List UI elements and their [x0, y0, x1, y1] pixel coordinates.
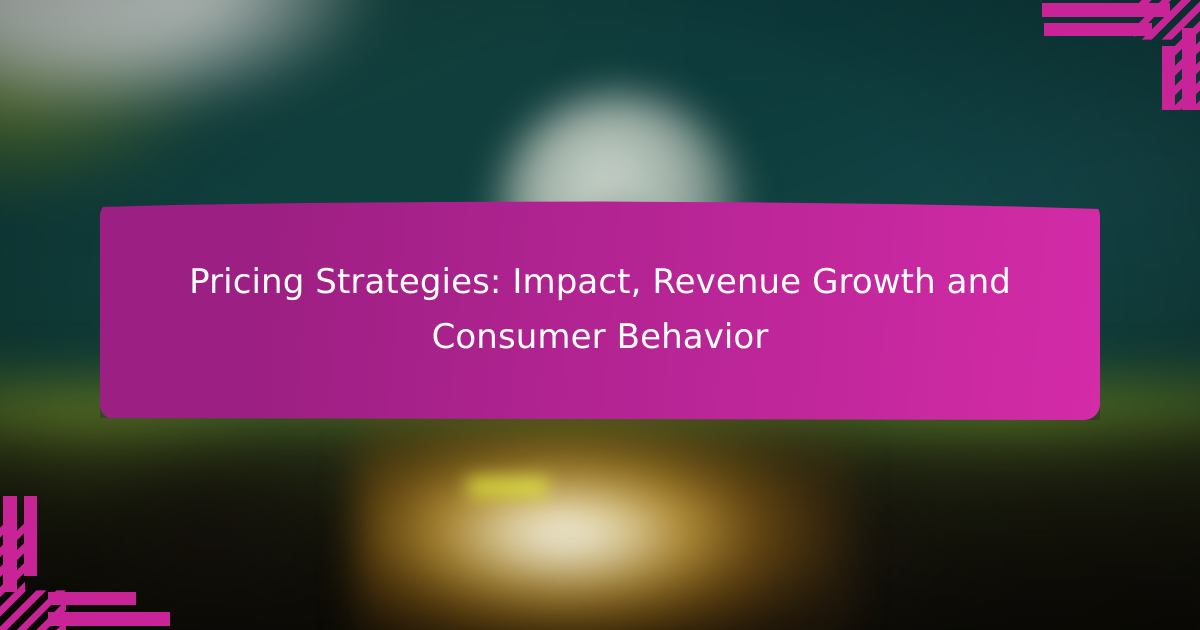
- deco-bar-tr-inner-vertical: [1162, 46, 1175, 110]
- deco-bar-bl-outer-horizontal: [48, 612, 170, 626]
- title-card: Pricing Strategies: Impact, Revenue Grow…: [0, 0, 1200, 630]
- deco-bar-bl-inner-vertical: [24, 496, 37, 576]
- corner-decoration-bottom-left: [0, 480, 170, 630]
- corner-decoration-top-right: [1030, 0, 1200, 110]
- page-title: Pricing Strategies: Impact, Revenue Grow…: [161, 255, 1039, 365]
- title-banner: Pricing Strategies: Impact, Revenue Grow…: [100, 200, 1100, 420]
